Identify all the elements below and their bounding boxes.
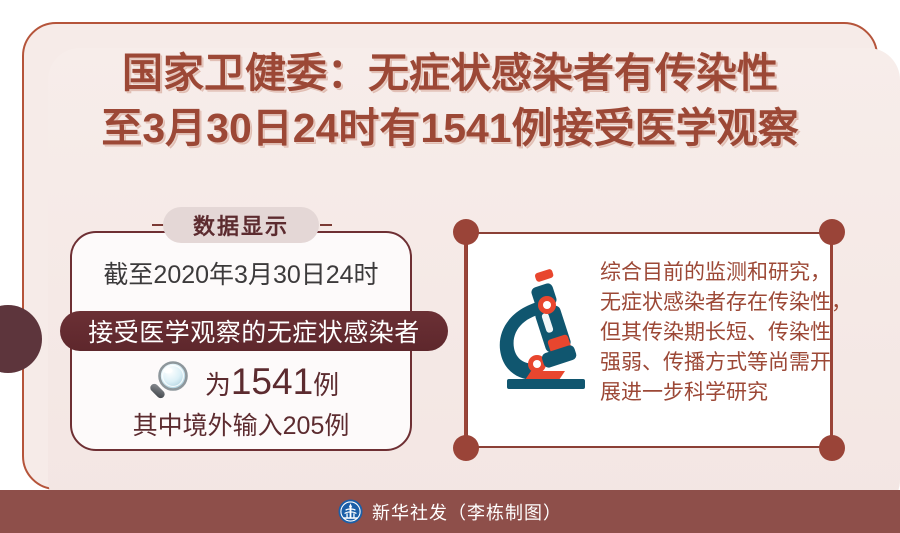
data-shows-chip-label: 数据显示: [193, 209, 289, 241]
footer-credit-text: 新华社发（李栋制图）: [372, 499, 562, 525]
statement-line: 综合目前的监测和研究，: [600, 258, 825, 288]
corner-dot-bottom-right: [819, 435, 845, 461]
imported-cases-text: 其中境外输入205例: [70, 406, 412, 442]
corner-dot-bottom-left: [453, 435, 479, 461]
title-line-2: 至3月30日24时有1541例接受医学观察: [0, 101, 900, 156]
xinhua-logo-icon: [338, 499, 363, 524]
observation-banner: 接受医学观察的无症状感染者: [60, 311, 448, 351]
count-prefix: 为: [205, 370, 231, 400]
microscope-icon: [487, 263, 597, 393]
corner-dot-top-right: [819, 219, 845, 245]
footer-bar: 新华社发（李栋制图）: [0, 490, 900, 533]
observation-banner-label: 接受医学观察的无症状感染者: [88, 313, 420, 349]
title-line-1: 国家卫健委：无症状感染者有传染性: [0, 46, 900, 101]
infographic-poster: 国家卫健委：无症状感染者有传染性 至3月30日24时有1541例接受医学观察 数…: [0, 0, 900, 533]
as-of-date-text: 截至2020年3月30日24时: [70, 255, 412, 291]
right-card-rail-right: [830, 232, 833, 448]
statement-line: 展进一步科学研究: [600, 378, 825, 408]
statement-line: 但其传染期长短、传染性: [600, 318, 825, 348]
count-row: 为1541例: [70, 360, 412, 404]
observation-count-text: 为1541例: [205, 361, 339, 403]
corner-dot-top-left: [453, 219, 479, 245]
count-value: 1541: [231, 361, 313, 402]
magnifier-icon: [143, 360, 195, 404]
data-shows-chip: 数据显示: [163, 207, 319, 243]
statement-line: 无症状感染者存在传染性，: [600, 288, 825, 318]
statement-line: 强弱、传播方式等尚需开: [600, 348, 825, 378]
page-title: 国家卫健委：无症状感染者有传染性 至3月30日24时有1541例接受医学观察: [0, 46, 900, 156]
right-card-rail-left: [464, 232, 467, 448]
statement-paragraph: 综合目前的监测和研究， 无症状感染者存在传染性， 但其传染期长短、传染性 强弱、…: [600, 258, 825, 408]
chip-tick-right: [320, 224, 332, 226]
footer-credit-group: 新华社发（李栋制图）: [338, 499, 562, 525]
count-suffix: 例: [313, 370, 339, 400]
